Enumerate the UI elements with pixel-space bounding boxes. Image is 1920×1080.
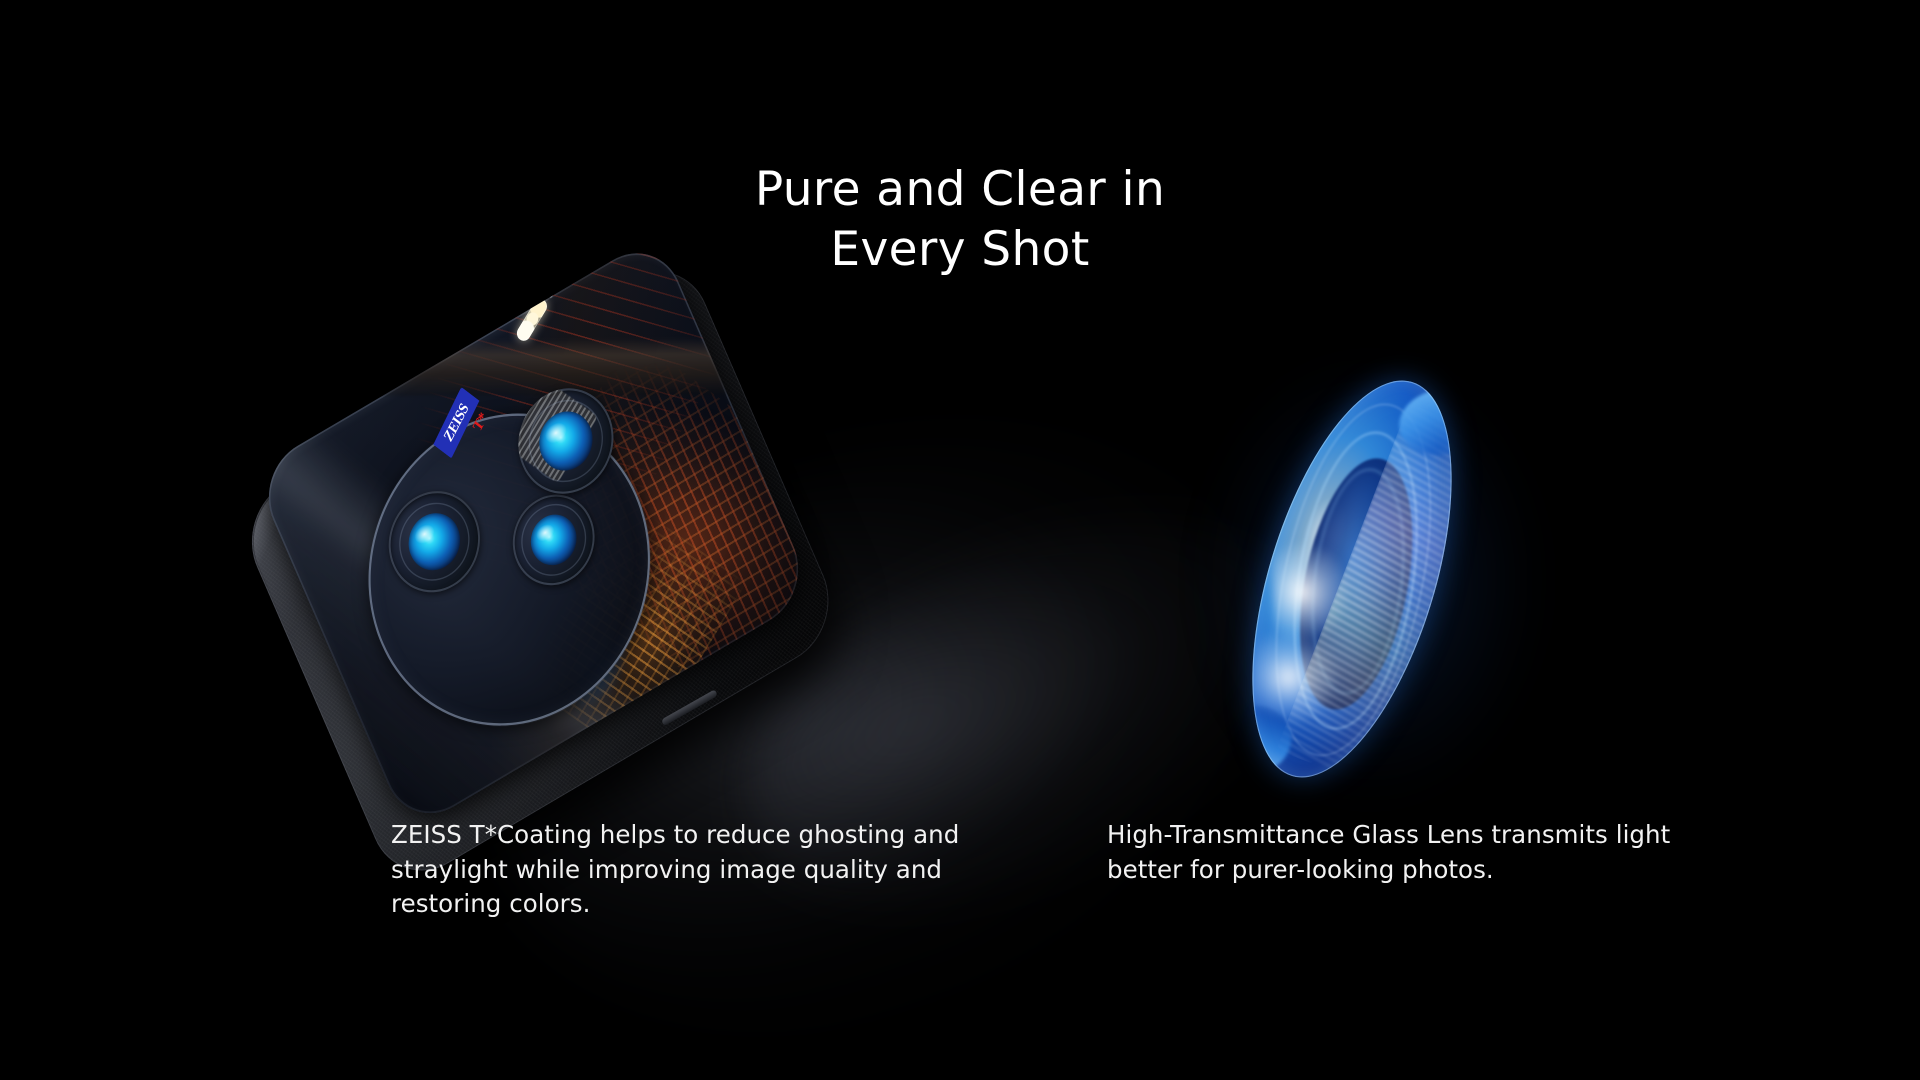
feature-caption-glass-lens: High-Transmittance Glass Lens transmits … (1107, 818, 1707, 887)
led-flash-icon (514, 296, 550, 344)
smartphone-camera-module-image: ZEISS T* VIVO | ZEISS Co-engineered (300, 330, 1000, 800)
page-title: Pure and Clear in Every Shot (0, 160, 1920, 280)
hero-section: Pure and Clear in Every Shot (0, 0, 1920, 1080)
glass-lens-element-image (1185, 345, 1555, 815)
smartphone-device: ZEISS T* VIVO | ZEISS Co-engineered (240, 205, 899, 896)
page-title-line-1: Pure and Clear in (0, 160, 1920, 220)
feature-caption-zeiss-t-coating: ZEISS T*Coating helps to reduce ghosting… (391, 818, 991, 922)
page-title-line-2: Every Shot (0, 220, 1920, 280)
zeiss-wordmark: ZEISS (440, 400, 472, 445)
